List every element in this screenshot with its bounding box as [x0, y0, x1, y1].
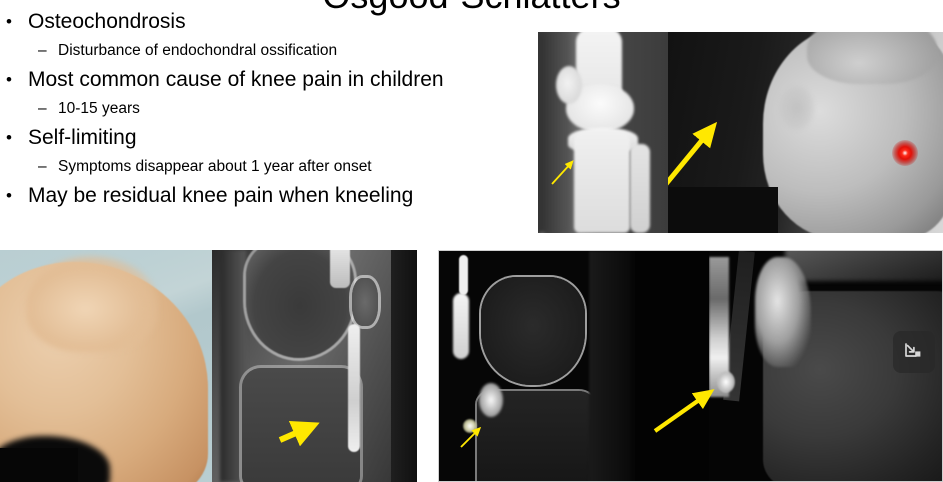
- bullet-item: – 10-15 years: [0, 95, 545, 122]
- sagittal-t1-mri-panel: [212, 250, 417, 482]
- picture-in-picture-icon: [902, 340, 926, 364]
- bullet-marker: •: [6, 6, 28, 37]
- bullet-text: Symptoms disappear about 1 year after on…: [58, 153, 372, 180]
- large-yellow-arrow-icon: [668, 32, 943, 233]
- knee-xray-pair-image: [538, 32, 943, 233]
- bullet-text: Osteochondrosis: [28, 6, 186, 37]
- bullet-text: 10-15 years: [58, 95, 140, 122]
- stir-mri-coronal-panel: [439, 251, 635, 481]
- bullet-text: Self-limiting: [28, 122, 137, 153]
- small-yellow-arrow-icon: [439, 251, 635, 481]
- bullet-marker: •: [6, 180, 28, 211]
- bullet-marker: •: [6, 64, 28, 95]
- clinical-photo-panel: [0, 250, 212, 482]
- bullet-item: • May be residual knee pain when kneelin…: [0, 180, 545, 211]
- slide-body-text: • Osteochondrosis – Disturbance of endoc…: [0, 6, 545, 211]
- bullet-item: • Osteochondrosis: [0, 6, 545, 37]
- picture-in-picture-button[interactable]: [893, 331, 935, 373]
- bullet-item: • Self-limiting: [0, 122, 545, 153]
- bullet-marker: •: [6, 122, 28, 153]
- bullet-marker: –: [38, 95, 58, 122]
- bullet-text: May be residual knee pain when kneeling: [28, 180, 413, 211]
- ap-knee-radiograph-panel: [538, 32, 668, 233]
- lateral-knee-radiograph-panel: [668, 32, 943, 233]
- bullet-text: Most common cause of knee pain in childr…: [28, 64, 444, 95]
- bullet-marker: –: [38, 37, 58, 64]
- bullet-text: Disturbance of endochondral ossification: [58, 37, 337, 64]
- tibial-tubercle-prominence: [26, 256, 158, 352]
- stir-mri-pair-image: [438, 250, 943, 482]
- bullet-marker: –: [38, 153, 58, 180]
- yellow-arrow-icon: [212, 250, 417, 482]
- red-laser-pointer-dot: [892, 140, 918, 166]
- bullet-item: – Symptoms disappear about 1 year after …: [0, 153, 545, 180]
- small-yellow-arrow-icon: [538, 32, 668, 233]
- bullet-item: • Most common cause of knee pain in chil…: [0, 64, 545, 95]
- photo-dark-corner: [0, 448, 78, 482]
- bullet-item: – Disturbance of endochondral ossificati…: [0, 37, 545, 64]
- clinical-photo-and-mri-image: [0, 250, 417, 482]
